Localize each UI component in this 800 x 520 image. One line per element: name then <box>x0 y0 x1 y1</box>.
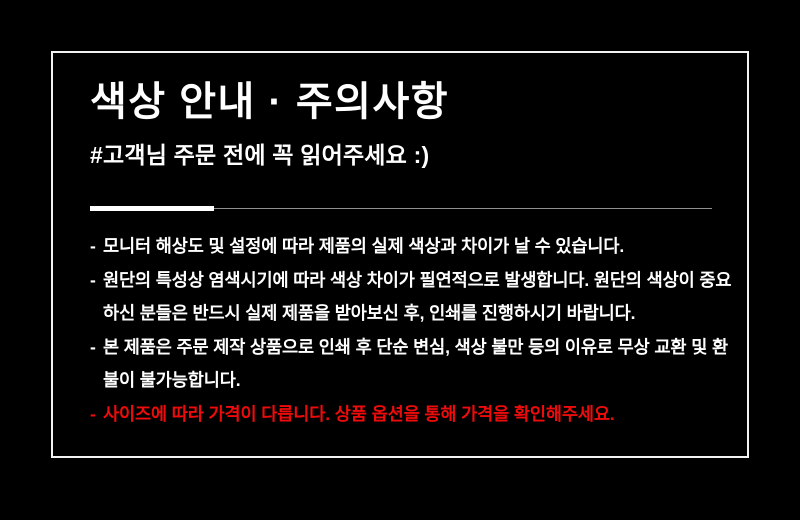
list-item-text: 본 제품은 주문 제작 상품으로 인쇄 후 단순 변심, 색상 불만 등의 이유… <box>103 331 738 398</box>
notice-frame: 색상 안내 · 주의사항 #고객님 주문 전에 꼭 읽어주세요 :) - 모니터… <box>51 51 749 458</box>
list-item: - 모니터 해상도 및 설정에 따라 제품의 실제 색상과 차이가 날 수 있습… <box>90 230 738 264</box>
notice-list: - 모니터 해상도 및 설정에 따라 제품의 실제 색상과 차이가 날 수 있습… <box>90 230 738 431</box>
notice-banner: 색상 안내 · 주의사항 #고객님 주문 전에 꼭 읽어주세요 :) - 모니터… <box>0 0 800 520</box>
bullet-marker: - <box>90 230 103 264</box>
page-subtitle: #고객님 주문 전에 꼭 읽어주세요 :) <box>90 143 429 168</box>
list-item: - 본 제품은 주문 제작 상품으로 인쇄 후 단순 변심, 색상 불만 등의 … <box>90 331 738 398</box>
list-item-text: 모니터 해상도 및 설정에 따라 제품의 실제 색상과 차이가 날 수 있습니다… <box>103 230 738 264</box>
list-item-text: 원단의 특성상 염색시기에 따라 색상 차이가 필연적으로 발생합니다. 원단의… <box>103 264 738 331</box>
divider <box>90 206 712 212</box>
list-item-highlighted: - 사이즈에 따라 가격이 다릅니다. 상품 옵션을 통해 가격을 확인해주세요… <box>90 398 738 432</box>
list-item-text: 사이즈에 따라 가격이 다릅니다. 상품 옵션을 통해 가격을 확인해주세요. <box>103 398 738 432</box>
bullet-marker: - <box>90 331 103 365</box>
bullet-marker: - <box>90 398 103 432</box>
bullet-marker: - <box>90 264 103 298</box>
list-item: - 원단의 특성상 염색시기에 따라 색상 차이가 필연적으로 발생합니다. 원… <box>90 264 738 331</box>
page-title: 색상 안내 · 주의사항 <box>90 81 449 123</box>
divider-thick-cap <box>90 206 214 211</box>
